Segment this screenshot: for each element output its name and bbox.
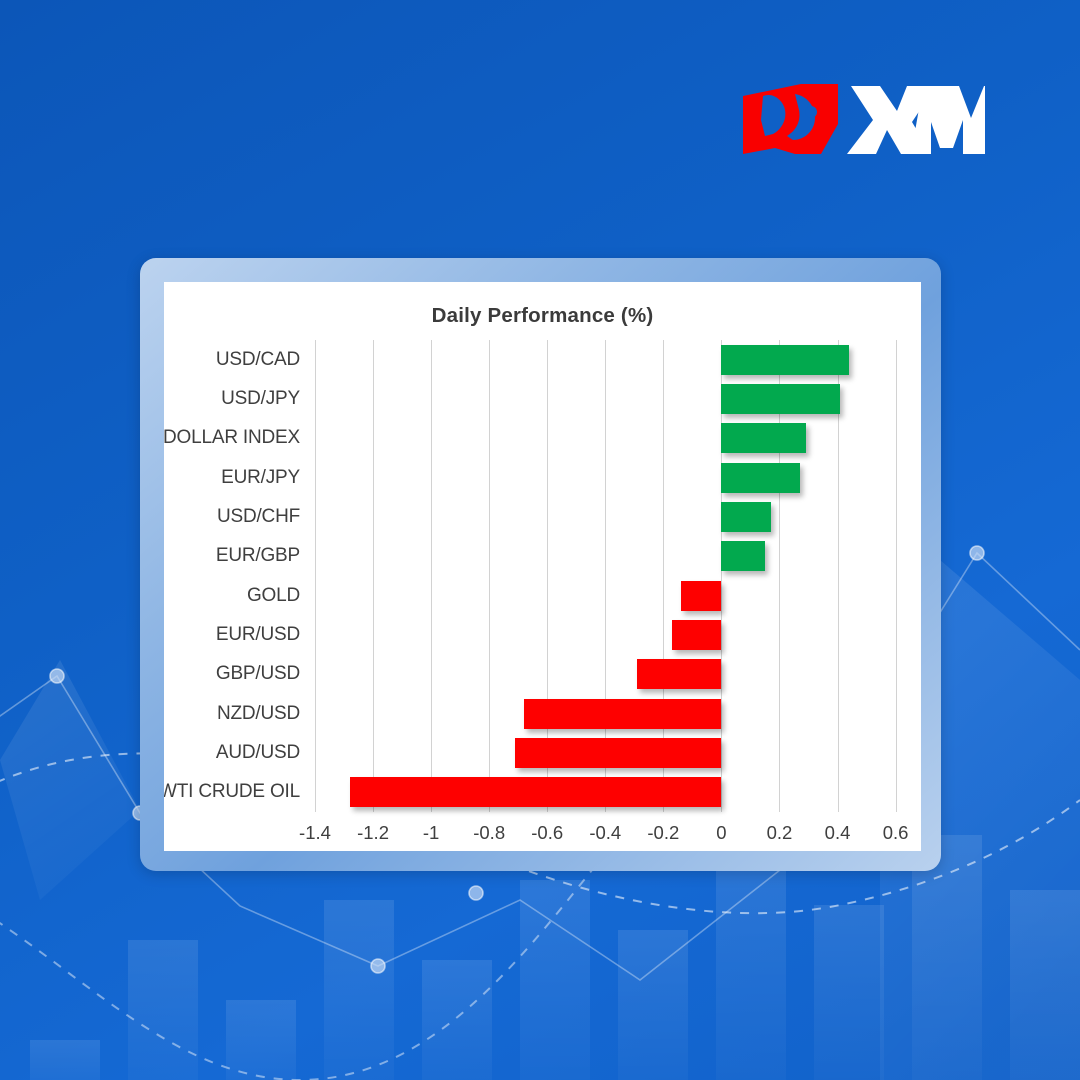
category-label: AUD/USD (216, 742, 300, 764)
bar (350, 777, 722, 807)
x-tick-label: 0.2 (767, 822, 793, 844)
category-label: USD/CHF (217, 506, 300, 528)
gridline (896, 340, 897, 812)
bar (637, 659, 721, 689)
x-tick-label: -0.2 (647, 822, 679, 844)
category-label: GOLD (247, 585, 300, 607)
x-tick-label: 0.4 (825, 822, 851, 844)
category-label: DOLLAR INDEX (164, 427, 300, 449)
category-label: WTI CRUDE OIL (164, 781, 300, 803)
x-tick-label: 0.6 (883, 822, 909, 844)
category-label: NZD/USD (217, 703, 300, 725)
chart-title: Daily Performance (%) (164, 304, 921, 328)
chart-card: Daily Performance (%) USD/CADUSD/JPYDOLL… (164, 282, 921, 851)
bar (524, 699, 721, 729)
bull-head-icon (743, 84, 838, 154)
category-label: EUR/USD (216, 624, 300, 646)
bar (721, 384, 840, 414)
x-tick-label: -0.6 (531, 822, 563, 844)
gridline (431, 340, 432, 812)
chart-frame: Daily Performance (%) USD/CADUSD/JPYDOLL… (140, 258, 941, 871)
bar (721, 423, 805, 453)
category-label: USD/CAD (216, 349, 300, 371)
category-label: USD/JPY (221, 388, 300, 410)
gridline (373, 340, 374, 812)
bar (721, 502, 770, 532)
bar (515, 738, 721, 768)
bar (681, 581, 722, 611)
gridline (489, 340, 490, 812)
x-tick-label: -1.4 (299, 822, 331, 844)
x-tick-label: -0.4 (589, 822, 621, 844)
xm-wordmark-icon (847, 86, 985, 154)
x-tick-label: -1 (423, 822, 439, 844)
x-tick-label: -1.2 (357, 822, 389, 844)
x-tick-label: -0.8 (473, 822, 505, 844)
category-label: EUR/GBP (216, 545, 300, 567)
bar (672, 620, 721, 650)
category-label: EUR/JPY (221, 467, 300, 489)
x-tick-label: 0 (716, 822, 726, 844)
xm-logo (735, 78, 985, 160)
bar (721, 463, 799, 493)
background-bars-icon (30, 835, 1080, 1080)
poster-canvas: Daily Performance (%) USD/CADUSD/JPYDOLL… (0, 0, 1080, 1080)
category-label: GBP/USD (216, 663, 300, 685)
gridline (315, 340, 316, 812)
plot-area: USD/CADUSD/JPYDOLLAR INDEXEUR/JPYUSD/CHF… (315, 340, 913, 812)
bar (721, 541, 765, 571)
bar (721, 345, 849, 375)
background-polygon-icon (0, 660, 140, 900)
